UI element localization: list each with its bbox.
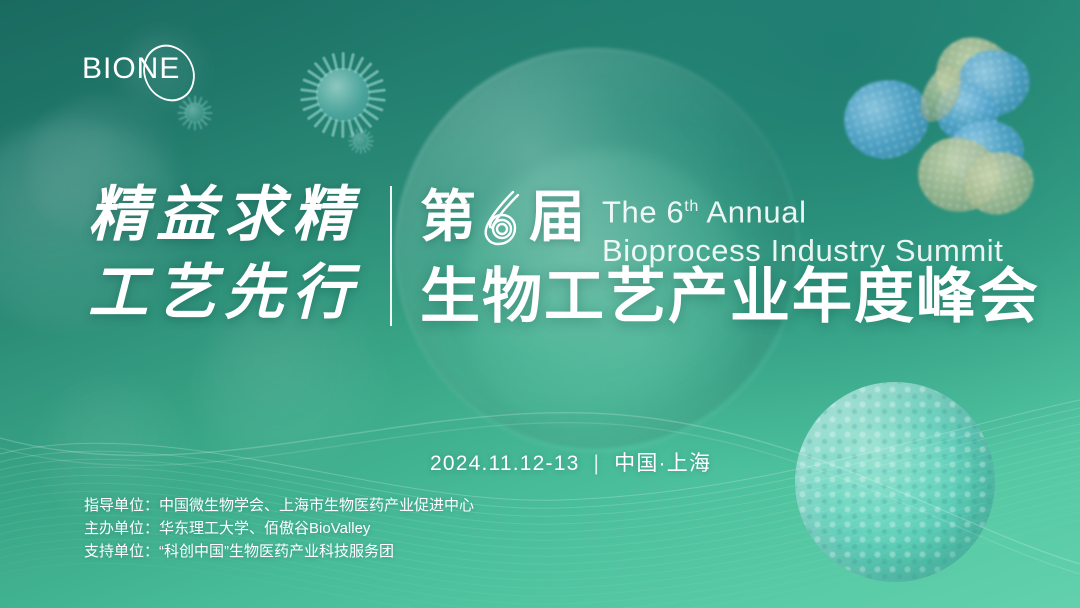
english-title-line-1: The 6th Annual	[602, 187, 1004, 231]
organizer-line-guidance: 指导单位：中国微生物学会、上海市生物医药产业促进中心	[84, 494, 474, 517]
slogan: 精益求精 工艺先行	[88, 176, 378, 332]
vertical-divider	[390, 186, 392, 326]
wave-lines-icon	[0, 378, 1080, 608]
dateline: 2024.11.12-13|中国·上海	[430, 447, 711, 477]
title-block: 第 届 The 6th Annual Bioprocess Industry S…	[420, 186, 1004, 270]
chinese-main-title: 生物工艺产业年度峰会	[420, 262, 1040, 332]
event-date: 2024.11.12-13	[430, 452, 580, 475]
english-title: The 6th Annual Bioprocess Industry Summi…	[602, 187, 1004, 270]
edition-prefix: 第	[420, 185, 477, 248]
edition-suffix: 届	[529, 185, 586, 248]
organizer-line-host: 主办单位：华东理工大学、佰傲谷BioValley	[84, 517, 474, 540]
organizer-line-support: 支持单位：“科创中国”生物医药产业科技服务团	[84, 540, 474, 563]
dateline-separator: |	[594, 452, 601, 475]
virus-particle-icon	[300, 52, 386, 138]
conference-poster: BIONE 精益求精 工艺先行 第 届 The 6th Annual	[0, 0, 1080, 608]
organizers: 指导单位：中国微生物学会、上海市生物医药产业促进中心 主办单位：华东理工大学、佰…	[84, 494, 474, 563]
slogan-line-2: 工艺先行	[88, 254, 378, 332]
bione-logo[interactable]: BIONE	[82, 44, 212, 98]
event-location: 中国·上海	[614, 452, 711, 475]
slogan-line-1: 精益求精	[88, 176, 378, 254]
edition-number-icon	[477, 186, 529, 248]
edition-label: 第 届	[420, 186, 586, 248]
virus-particle-icon	[178, 96, 212, 130]
virus-particle-icon	[348, 128, 374, 154]
